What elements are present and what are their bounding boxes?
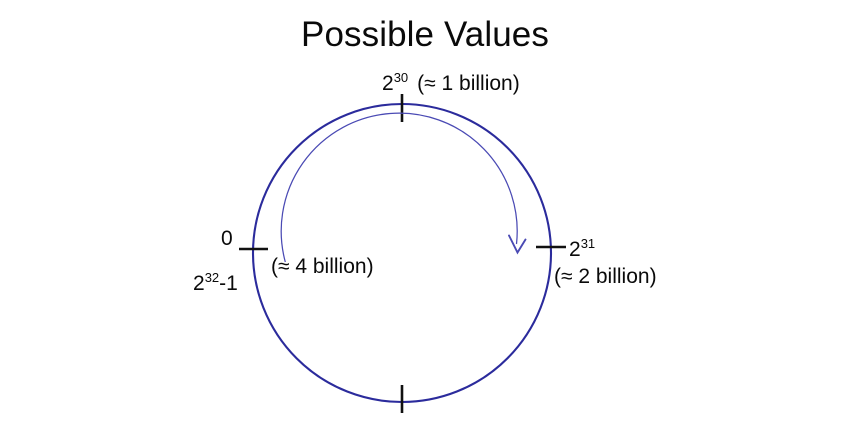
- label-top-exponent: 30: [394, 70, 408, 85]
- label-top-2pow30: 230(≈ 1 billion): [382, 72, 520, 96]
- label-top-approx: (≈ 1 billion): [417, 72, 520, 95]
- value-circle: [253, 104, 551, 402]
- label-left-2pow32-minus-1: 232-1: [193, 272, 238, 296]
- label-right-exponent: 31: [581, 236, 595, 251]
- label-left-max-suffix: -1: [219, 272, 238, 295]
- clockwise-arrow-arc: [281, 113, 517, 262]
- label-left-zero: 0: [221, 227, 233, 251]
- label-top-base: 2: [382, 72, 394, 95]
- label-right-2pow31: 231: [569, 238, 595, 262]
- slide-canvas: Possible Values 230(≈ 1 billion) 231 (≈ …: [0, 0, 850, 437]
- label-left-max-exponent: 32: [205, 270, 219, 285]
- wraparound-circle-diagram: [0, 0, 850, 437]
- label-right-approx: (≈ 2 billion): [554, 265, 676, 289]
- label-left-approx: (≈ 4 billion): [271, 255, 374, 279]
- label-left-max-base: 2: [193, 272, 205, 295]
- label-right-base: 2: [569, 238, 581, 261]
